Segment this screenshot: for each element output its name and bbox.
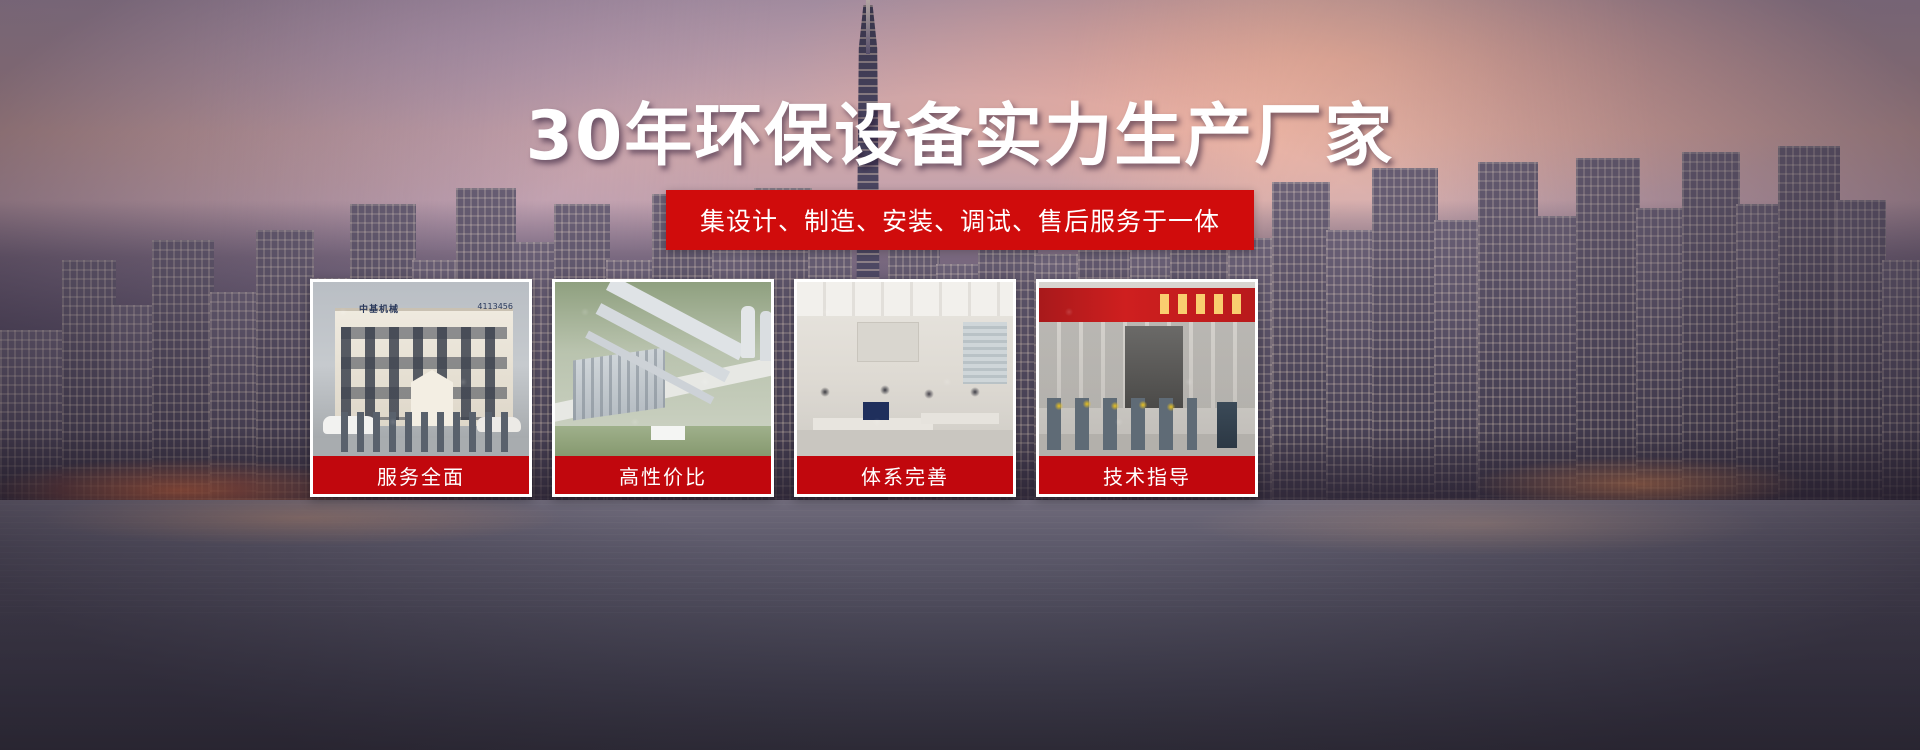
feature-card-service[interactable]: 中基机械 4113456 服务全面: [310, 279, 532, 497]
building-sign-label: 中基机械: [359, 302, 399, 315]
hero-content: 30年环保设备实力生产厂家 集设计、制造、安装、调试、售后服务于一体 中基机械 …: [0, 0, 1920, 750]
hero-headline: 30年环保设备实力生产厂家: [0, 100, 1920, 173]
card-image-workshop-workers: [1039, 282, 1255, 456]
feature-card-value[interactable]: 高性价比: [552, 279, 774, 497]
card-caption: 技术指导: [1039, 456, 1255, 494]
card-caption: 高性价比: [555, 456, 771, 494]
card-image-office-building: 中基机械 4113456: [313, 282, 529, 456]
hero-banner: 30年环保设备实力生产厂家 集设计、制造、安装、调试、售后服务于一体 中基机械 …: [0, 0, 1920, 750]
card-image-office-interior: [797, 282, 1013, 456]
card-caption: 体系完善: [797, 456, 1013, 494]
card-caption: 服务全面: [313, 456, 529, 494]
feature-card-list: 中基机械 4113456 服务全面: [310, 279, 1258, 497]
hero-subtitle-banner: 集设计、制造、安装、调试、售后服务于一体: [666, 190, 1254, 250]
building-phone-label: 4113456: [477, 302, 513, 311]
feature-card-guidance[interactable]: 技术指导: [1036, 279, 1258, 497]
card-image-industrial-plant: [555, 282, 771, 456]
feature-card-system[interactable]: 体系完善: [794, 279, 1016, 497]
